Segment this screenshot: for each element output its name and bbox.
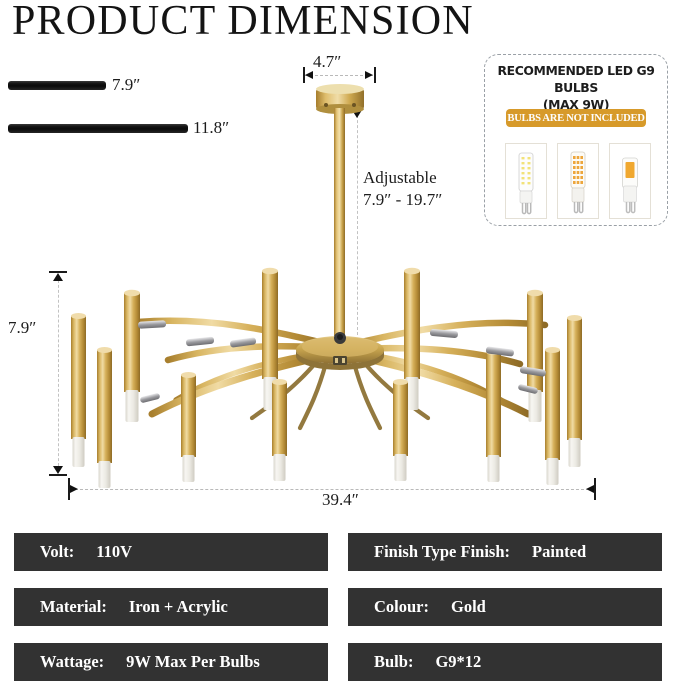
rod-sample-short — [8, 81, 106, 90]
dim-adjustable-arrow — [352, 110, 362, 118]
spec-key: Bulb: — [374, 652, 413, 672]
g9-led-bulb-warm-icon — [563, 150, 593, 218]
spec-value: Gold — [451, 597, 486, 617]
page-title: PRODUCT DIMENSION — [12, 0, 552, 46]
connector-sleeves — [138, 320, 546, 403]
dim-height-arrow-bottom — [53, 466, 63, 474]
bulb-thumb-3 — [609, 143, 651, 219]
rod-sample-long — [8, 124, 188, 133]
drop-rod — [334, 108, 345, 336]
spec-value: 110V — [96, 542, 132, 562]
dim-canopy-arrow-right — [365, 71, 373, 79]
rod-sample-short-label: 7.9″ — [112, 75, 140, 95]
rod-sample-long-label: 11.8″ — [193, 118, 229, 138]
spec-value: Iron + Acrylic — [129, 597, 228, 617]
spec-key: Material: — [40, 597, 107, 617]
candle-tube — [71, 313, 86, 467]
dim-height-line — [58, 275, 59, 471]
candle-tube — [262, 268, 278, 410]
dim-canopy-line — [305, 75, 373, 76]
spec-key: Colour: — [374, 597, 429, 617]
recommended-bulbs-heading: RECOMMENDED LED G9 BULBS (MAX 9W) — [492, 62, 660, 113]
spec-key: Finish Type Finish: — [374, 542, 510, 562]
dim-width-arrow-right — [586, 485, 594, 493]
candle-tube — [527, 290, 543, 422]
dim-width-cap-right — [594, 478, 596, 500]
candle-tubes — [71, 268, 582, 488]
dim-height-arrow-top — [53, 273, 63, 281]
bulb-thumb-1 — [505, 143, 547, 219]
dim-canopy-width-label: 4.7″ — [313, 52, 341, 72]
chandelier-arms-front — [152, 356, 528, 414]
dim-height-label: 7.9″ — [8, 318, 36, 338]
dim-adjustable-line — [357, 110, 358, 335]
dim-width-label: 39.4″ — [322, 490, 359, 510]
candle-tube — [486, 349, 501, 482]
g9-led-bulb-cob-icon — [615, 150, 645, 218]
candle-tube — [97, 347, 112, 488]
spec-row-volt: Volt: 110V — [14, 533, 328, 571]
chandelier-arms-back-2 — [176, 352, 504, 402]
bulb-thumb-2 — [557, 143, 599, 219]
candle-tube — [567, 315, 582, 467]
candle-tube — [181, 372, 196, 482]
g9-led-bulb-cool-icon — [511, 150, 541, 218]
spec-value: G9*12 — [435, 652, 481, 672]
dim-height-cap-bottom — [49, 474, 67, 476]
chandelier-arms-lower — [252, 360, 428, 428]
status-badge: BULBS ARE NOT INCLUDED — [506, 109, 646, 127]
spec-key: Volt: — [40, 542, 74, 562]
spec-row-wattage: Wattage: 9W Max Per Bulbs — [14, 643, 328, 681]
spec-row-bulb: Bulb: G9*12 — [348, 643, 662, 681]
recommended-bulbs-heading-line1: RECOMMENDED LED G9 BULBS — [492, 62, 660, 96]
dim-canopy-cap-right — [374, 67, 376, 83]
candle-tube — [124, 290, 140, 422]
spec-value: Painted — [532, 542, 586, 562]
spec-key: Wattage: — [40, 652, 104, 672]
dim-canopy-arrow-left — [305, 71, 313, 79]
spec-value: 9W Max Per Bulbs — [126, 652, 260, 672]
spec-row-finish: Finish Type Finish: Painted — [348, 533, 662, 571]
center-hub — [296, 332, 384, 370]
candle-tube — [393, 379, 408, 481]
spec-row-material: Material: Iron + Acrylic — [14, 588, 328, 626]
candle-tube — [272, 379, 287, 481]
candle-tube — [404, 268, 420, 410]
candle-tube — [545, 347, 560, 485]
dim-adjustable-range: 7.9″ - 19.7″ — [363, 190, 442, 210]
dim-width-arrow-left — [70, 485, 78, 493]
dim-adjustable-label: Adjustable — [363, 168, 437, 188]
chandelier-arms-back — [138, 321, 545, 364]
spec-row-colour: Colour: Gold — [348, 588, 662, 626]
